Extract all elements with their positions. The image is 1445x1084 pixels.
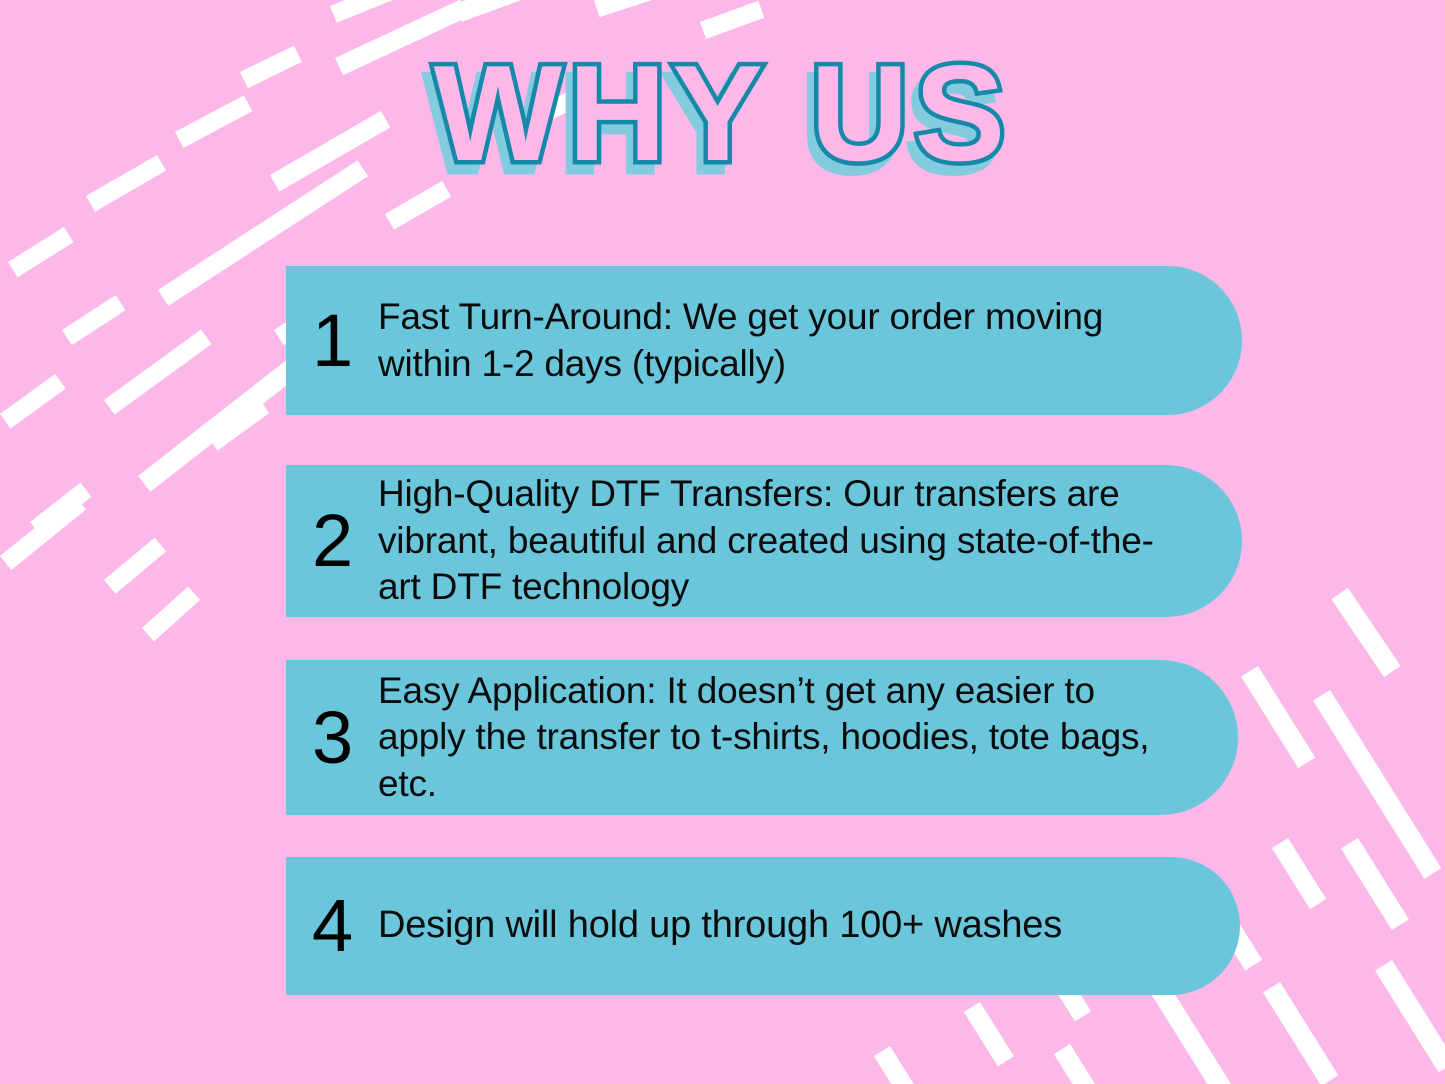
stripe-dash — [104, 538, 166, 594]
stripe-dash — [1054, 1044, 1102, 1084]
list-item-text: Fast Turn-Around: We get your order movi… — [378, 294, 1242, 387]
list-item-number: 1 — [286, 304, 378, 378]
stripe-dash — [330, 0, 416, 23]
page-title: WHY US WHY US — [0, 38, 1445, 188]
list-item: 3 Easy Application: It doesn’t get any e… — [286, 660, 1238, 815]
stripe-dash — [1263, 982, 1338, 1084]
stripe-dash — [594, 0, 668, 17]
list-item-number: 4 — [286, 889, 378, 963]
stripe-dash — [1313, 690, 1441, 879]
stripe-dash — [1149, 980, 1234, 1084]
stripe-dash — [104, 329, 212, 414]
stripe-dash — [8, 227, 74, 277]
stripe-dash — [1241, 666, 1315, 768]
stripe-dash — [874, 1046, 936, 1084]
stripe-dash — [964, 1002, 1014, 1066]
stripe-dash — [0, 496, 86, 570]
page-title-text: WHY US — [0, 38, 1445, 188]
stripe-dash — [455, 0, 574, 22]
list-item: 2 High-Quality DTF Transfers: Our transf… — [286, 465, 1242, 617]
list-item-number: 2 — [286, 504, 378, 578]
stripe-dash — [1375, 960, 1445, 1072]
list-item-text: Design will hold up through 100+ washes — [378, 902, 1240, 950]
list-item: 4 Design will hold up through 100+ washe… — [286, 857, 1240, 995]
benefits-list: 1 Fast Turn-Around: We get your order mo… — [286, 266, 1246, 995]
stripe-dash — [1331, 588, 1400, 677]
stripe-dash — [0, 374, 66, 429]
stripe-dash — [62, 295, 125, 345]
stripe-dash — [1341, 838, 1409, 930]
list-item: 1 Fast Turn-Around: We get your order mo… — [286, 266, 1242, 415]
stripe-dash — [207, 398, 269, 450]
stripe-dash — [30, 483, 92, 537]
list-item-text: High-Quality DTF Transfers: Our transfer… — [378, 471, 1242, 611]
list-item-text: Easy Application: It doesn’t get any eas… — [378, 668, 1238, 808]
stripe-dash — [142, 587, 200, 642]
stripe-dash — [1272, 838, 1326, 909]
poster-canvas: WHY US WHY US 1 Fast Turn-Around: We get… — [0, 0, 1445, 1084]
list-item-number: 3 — [286, 701, 378, 775]
stripe-dash — [700, 1, 764, 39]
